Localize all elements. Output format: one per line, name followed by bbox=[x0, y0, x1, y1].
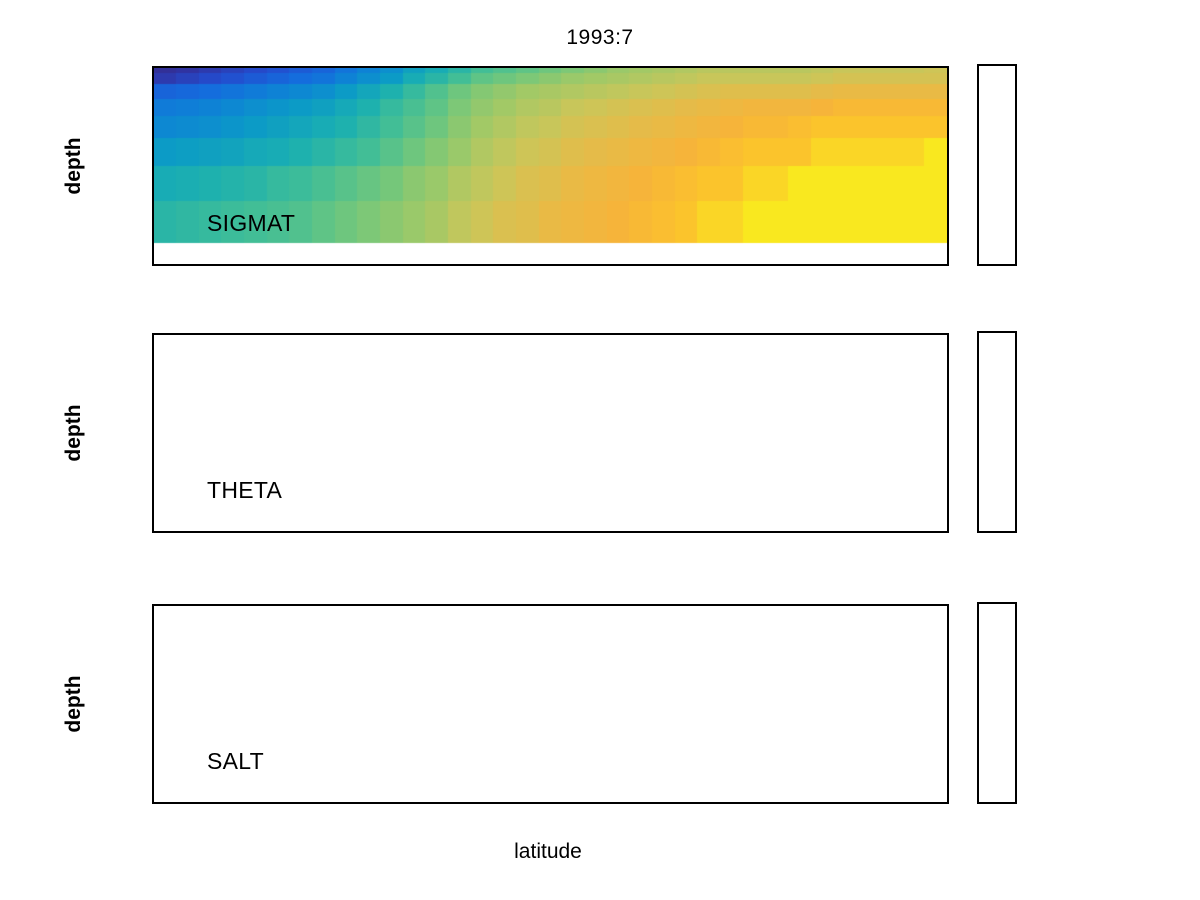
x-axis-label: latitude bbox=[448, 840, 648, 864]
panel-label-sigmat: SIGMAT bbox=[207, 210, 295, 237]
figure-title: 1993:7 bbox=[0, 26, 1200, 50]
panel-label-theta: THETA bbox=[207, 477, 282, 504]
theta-colorbar[interactable] bbox=[977, 331, 1017, 533]
salt-colorbar[interactable] bbox=[977, 602, 1017, 804]
y-axis-label-salt: depth bbox=[62, 644, 86, 764]
panel-label-salt: SALT bbox=[207, 748, 264, 775]
y-axis-label-sigmat: depth bbox=[62, 106, 86, 226]
axes-salt[interactable] bbox=[152, 604, 949, 804]
y-axis-label-theta: depth bbox=[62, 373, 86, 493]
sigmat-colorbar[interactable] bbox=[977, 64, 1017, 266]
figure-root: 1993:7 SIGMAT depth THETA depth SALT dep… bbox=[0, 0, 1200, 900]
